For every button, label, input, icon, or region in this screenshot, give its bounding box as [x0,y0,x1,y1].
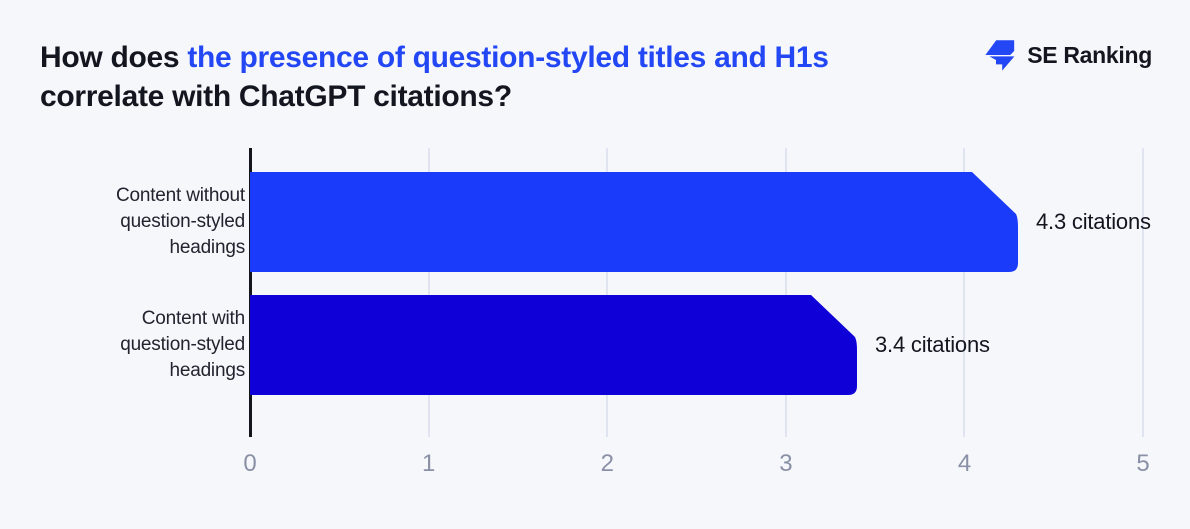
category-label-line: question-styled [0,209,245,235]
bar[interactable] [250,295,857,395]
bar-value-label: 3.4 citations [875,332,990,358]
brand-logo: SE Ranking [984,38,1152,72]
title-segment-highlight: the presence of question-styled titles a… [187,41,828,74]
chart-header: How does the presence of question-styled… [0,0,1190,140]
bar[interactable] [250,172,1018,272]
category-label-line: Content with [0,306,245,332]
x-tick-label: 1 [399,450,459,478]
x-tick-label: 3 [756,450,816,478]
brand-name: SE Ranking [1027,42,1152,69]
bar-value-label: 4.3 citations [1036,209,1151,235]
se-ranking-bolt-icon [984,39,1016,72]
gridline-5 [1142,148,1144,437]
category-label: Content withquestion-styledheadings [0,306,245,384]
category-label-line: question-styled [0,332,245,358]
category-label-line: Content without [0,183,245,209]
bar-chart: Content withoutquestion-styledheadings4.… [0,140,1190,529]
category-label-line: headings [0,358,245,384]
x-tick-label: 0 [220,450,280,478]
category-label: Content withoutquestion-styledheadings [0,183,245,261]
x-tick-label: 2 [577,450,637,478]
title-segment-plain-1: How does [40,41,187,74]
category-label-line: headings [0,235,245,261]
x-axis-tick-labels: 012345 [0,450,1190,490]
page-title: How does the presence of question-styled… [40,38,920,116]
x-tick-label: 5 [1113,450,1173,478]
x-tick-label: 4 [934,450,994,478]
title-segment-plain-2: correlate with ChatGPT citations? [40,80,512,113]
